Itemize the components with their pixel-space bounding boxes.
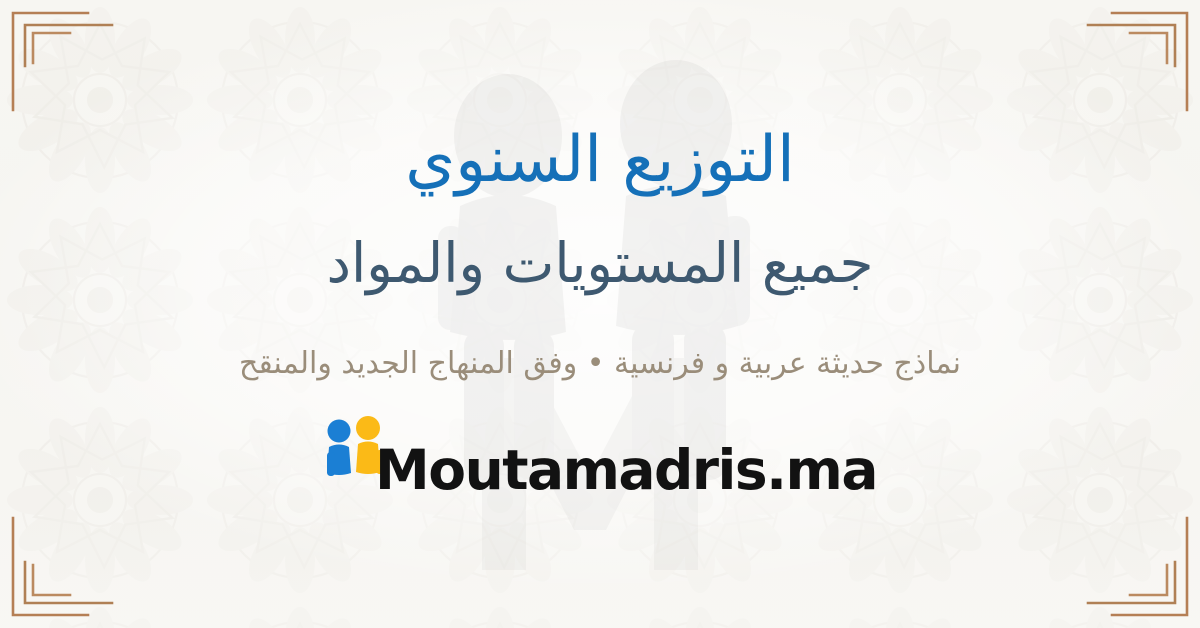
poster-canvas: التوزيع السنوي جميع المستويات والمواد نم… xyxy=(0,0,1200,628)
poster-content: التوزيع السنوي جميع المستويات والمواد نم… xyxy=(0,0,1200,628)
page-title: التوزيع السنوي xyxy=(405,128,795,193)
brand-lockup: Moutamadris.ma xyxy=(323,416,877,496)
brand-name: Moutamadris.ma xyxy=(375,444,877,497)
tagline-text: نماذج حديثة عربية و فرنسية • وفق المنهاج… xyxy=(239,347,961,380)
page-subtitle: جميع المستويات والمواد xyxy=(327,235,874,291)
